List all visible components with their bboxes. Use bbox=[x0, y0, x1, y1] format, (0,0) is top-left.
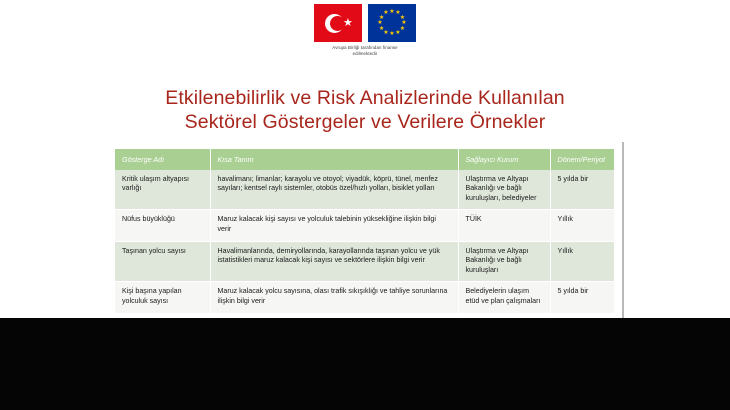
page-title: Etkilenebilirlik ve Risk Analizlerinde K… bbox=[60, 86, 670, 134]
table-header-row: Gösterge Adı Kısa Tanım Sağlayıcı Kurum … bbox=[115, 149, 614, 170]
table-row: Nüfus büyüklüğü Maruz kalacak kişi sayıs… bbox=[115, 210, 614, 241]
slide-canvas: ★ ★ ★ ★ ★ ★ ★ ★ ★ ★ ★ ★ ★ Avrupa Birliği… bbox=[0, 0, 730, 318]
cell-saglayici-kurum: Ulaştırma ve Altyapı Bakanlığı ve bağlı … bbox=[458, 241, 550, 282]
cell-saglayici-kurum: TÜİK bbox=[458, 210, 550, 241]
column-header-kisa-tanim: Kısa Tanım bbox=[210, 149, 458, 170]
cell-kisa-tanim: Maruz kalacak yolcu sayısına, olası traf… bbox=[210, 282, 458, 313]
column-header-saglayici-kurum: Sağlayıcı Kurum bbox=[458, 149, 550, 170]
eu-star-icon: ★ bbox=[383, 10, 390, 17]
slide-edge-divider bbox=[622, 142, 624, 318]
sector-indicators-table: Gösterge Adı Kısa Tanım Sağlayıcı Kurum … bbox=[115, 149, 614, 314]
column-header-gosterge-adi: Gösterge Adı bbox=[115, 149, 210, 170]
turkey-flag-icon: ★ bbox=[314, 4, 362, 42]
eu-star-icon: ★ bbox=[389, 31, 396, 38]
table-row: Taşınan yolcu sayısı Havalimanlarında, d… bbox=[115, 241, 614, 282]
cell-donem-periyot: Yıllık bbox=[550, 210, 614, 241]
page-title-line-1: Etkilenebilirlik ve Risk Analizlerinde K… bbox=[60, 86, 670, 110]
flag-row: ★ ★ ★ ★ ★ ★ ★ ★ ★ ★ ★ ★ ★ bbox=[0, 4, 730, 42]
table-row: Kritik ulaşım altyapısı varlığı havalima… bbox=[115, 170, 614, 210]
cell-donem-periyot: Yıllık bbox=[550, 241, 614, 282]
european-union-flag-icon: ★ ★ ★ ★ ★ ★ ★ ★ ★ ★ ★ ★ bbox=[368, 4, 416, 42]
star-icon: ★ bbox=[343, 18, 353, 29]
cell-donem-periyot: 5 yılda bir bbox=[550, 282, 614, 313]
cell-gosterge-adi: Kritik ulaşım altyapısı varlığı bbox=[115, 170, 210, 210]
cell-kisa-tanim: Havalimanlarında, demiryollarında, karay… bbox=[210, 241, 458, 282]
cell-saglayici-kurum: Belediyelerin ulaşım etüd ve plan çalışm… bbox=[458, 282, 550, 313]
cell-kisa-tanim: havalimanı; limanlar; karayolu ve otoyol… bbox=[210, 170, 458, 210]
column-header-donem-periyot: Dönem/Periyot bbox=[550, 149, 614, 170]
eu-star-icon: ★ bbox=[395, 30, 402, 37]
funding-statement: Avrupa Birliği tarafından finanse edilme… bbox=[0, 45, 730, 57]
cell-gosterge-adi: Taşınan yolcu sayısı bbox=[115, 241, 210, 282]
cell-donem-periyot: 5 yılda bir bbox=[550, 170, 614, 210]
page-title-line-2: Sektörel Göstergeler ve Verilere Örnekle… bbox=[60, 110, 670, 134]
funding-logo-block: ★ ★ ★ ★ ★ ★ ★ ★ ★ ★ ★ ★ ★ Avrupa Birliği… bbox=[0, 4, 730, 57]
funding-statement-line-2: edilmektedir bbox=[0, 51, 730, 57]
table-row: Kişi başına yapılan yolculuk sayısı Maru… bbox=[115, 282, 614, 313]
cell-gosterge-adi: Nüfus büyüklüğü bbox=[115, 210, 210, 241]
cell-kisa-tanim: Maruz kalacak kişi sayısı ve yolculuk ta… bbox=[210, 210, 458, 241]
cell-saglayici-kurum: Ulaştırma ve Altyapı Bakanlığı ve bağlı … bbox=[458, 170, 550, 210]
letterbox-bar bbox=[0, 318, 730, 410]
cell-gosterge-adi: Kişi başına yapılan yolculuk sayısı bbox=[115, 282, 210, 313]
